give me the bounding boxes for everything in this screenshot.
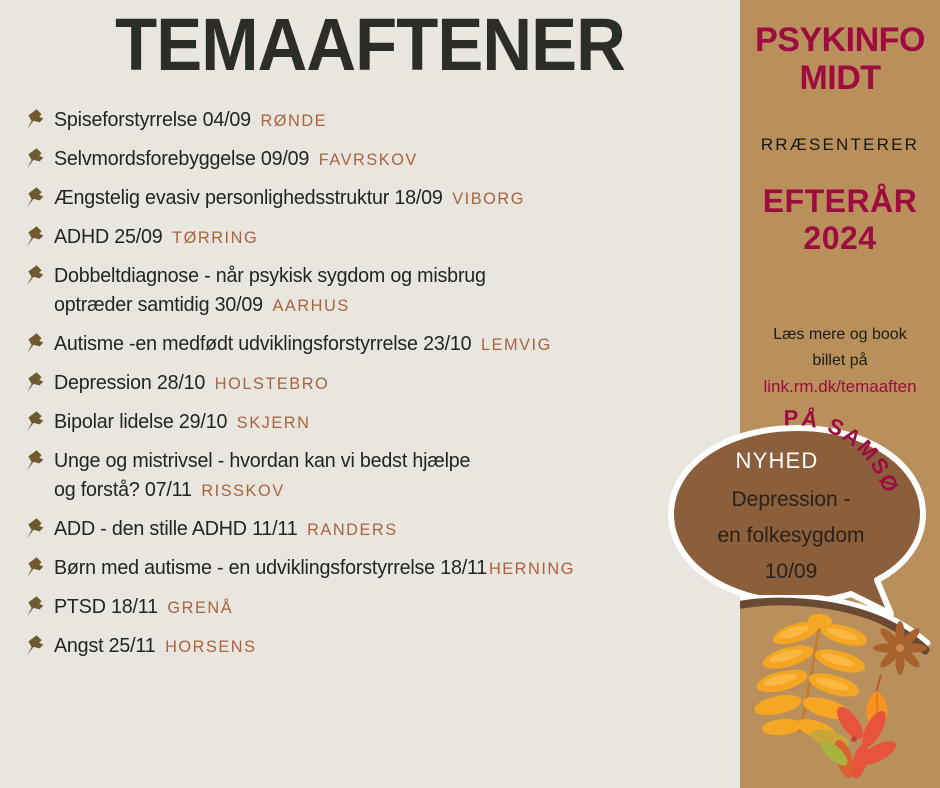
pushpin-icon [22,224,48,250]
year-label: 2024 [740,220,940,256]
event-city: VIBORG [452,189,525,208]
pushpin-icon [22,331,48,357]
event-city: LEMVIG [481,335,552,354]
event-text: ADD - den stille ADHD 11/11RANDERS [54,514,398,544]
event-text: ADHD 25/09TØRRING [54,222,258,252]
event-city: TØRRING [172,228,258,247]
event-text: Ængstelig evasiv personlighedsstruktur 1… [54,183,525,213]
list-item[interactable]: Ængstelig evasiv personlighedsstruktur 1… [22,183,742,213]
event-title: Ængstelig evasiv personlighedsstruktur 1… [54,186,443,209]
pushpin-icon [22,185,48,211]
pushpin-icon [22,409,48,435]
pushpin-icon [22,448,48,474]
read-more-line2: billet på [740,348,940,374]
event-title-cont: optræder samtidig 30/09 [54,293,263,316]
event-city: GRENÅ [167,598,233,617]
event-text: Depression 28/10HOLSTEBRO [54,368,329,398]
event-text: Selvmordsforebyggelse 09/09FAVRSKOV [54,144,418,174]
list-item[interactable]: Spiseforstyrrelse 04/09RØNDE [22,105,742,135]
pushpin-icon [22,555,48,581]
event-city: AARHUS [273,296,350,315]
list-item[interactable]: ADHD 25/09TØRRING [22,222,742,252]
event-text: Bipolar lidelse 29/10SKJERN [54,407,310,437]
event-city: HOLSTEBRO [215,374,329,393]
event-city: RISSKOV [201,481,284,500]
event-city: SKJERN [237,413,311,432]
list-item[interactable]: Autisme -en medfødt udviklingsforstyrrel… [22,329,742,359]
list-item[interactable]: ADD - den stille ADHD 11/11RANDERS [22,514,742,544]
list-item[interactable]: Unge og mistrivsel - hvordan kan vi beds… [22,446,742,505]
event-text: PTSD 18/11GRENÅ [54,592,233,622]
event-title-line2: optræder samtidig 30/09AARHUS [54,290,486,320]
event-title: ADHD 25/09 [54,225,163,248]
list-item[interactable]: Angst 25/11HORSENS [22,631,742,661]
event-city: HORSENS [165,637,256,656]
event-title-cont: og forstå? 07/11 [54,478,192,501]
pushpin-icon [22,594,48,620]
event-title: ADD - den stille ADHD 11/11 [54,517,297,540]
list-item[interactable]: Børn med autisme - en udviklingsforstyrr… [22,553,742,583]
list-item[interactable]: Selvmordsforebyggelse 09/09FAVRSKOV [22,144,742,174]
event-title: Bipolar lidelse 29/10 [54,410,227,433]
event-list: Spiseforstyrrelse 04/09RØNDE Selvmordsfo… [22,105,742,670]
event-city: RANDERS [307,520,398,539]
pushpin-icon [22,516,48,542]
read-more-text: Læs mere og book billet på [740,322,940,374]
event-city: FAVRSKOV [319,150,418,169]
brand-name-line1: PSYKINFO [740,22,940,58]
samso-arc-text: PÅ SAMSØ [784,404,904,497]
event-title: Dobbeltdiagnose - når psykisk sygdom og … [54,264,486,287]
event-title: Børn med autisme - en udviklingsforstyrr… [54,556,487,579]
pushpin-icon [22,633,48,659]
booking-link[interactable]: link.rm.dk/temaaften [740,376,940,398]
pushpin-icon [22,146,48,172]
event-text: Angst 25/11HORSENS [54,631,257,661]
list-item[interactable]: PTSD 18/11GRENÅ [22,592,742,622]
event-title: Selvmordsforebyggelse 09/09 [54,147,309,170]
event-title: Depression 28/10 [54,371,205,394]
list-item[interactable]: Bipolar lidelse 29/10SKJERN [22,407,742,437]
season-label: EFTERÅR [740,183,940,219]
page-title: TEMAAFTENER [26,8,714,82]
list-item[interactable]: Dobbeltdiagnose - når psykisk sygdom og … [22,261,742,320]
event-text: Børn med autisme - en udviklingsforstyrr… [54,553,575,583]
star-anise [873,621,927,675]
list-item[interactable]: Depression 28/10HOLSTEBRO [22,368,742,398]
pushpin-icon [22,263,48,289]
event-title: Spiseforstyrrelse 04/09 [54,108,251,131]
brand-name-line2: MIDT [740,60,940,96]
samso-arc-label: PÅ SAMSØ [775,418,940,508]
bubble-line-2: en folkesygdom [681,518,901,554]
event-city: RØNDE [260,111,327,130]
event-title: Autisme -en medfødt udviklingsforstyrrel… [54,332,471,355]
read-more-line1: Læs mere og book [740,322,940,348]
event-text: Autisme -en medfødt udviklingsforstyrrel… [54,329,552,359]
event-title: PTSD 18/11 [54,595,158,618]
presents-label: RRÆSENTERER [740,135,940,155]
poster-canvas: TEMAAFTENER Spiseforstyrrelse 04/09RØNDE… [0,0,940,788]
event-city: HERNING [489,559,575,578]
autumn-leaves-decoration [740,595,940,788]
event-title-line2: og forstå? 07/11RISSKOV [54,475,470,505]
event-text: Unge og mistrivsel - hvordan kan vi beds… [54,446,470,505]
event-title: Angst 25/11 [54,634,155,657]
bubble-line-3: 10/09 [681,554,901,590]
event-title: Unge og mistrivsel - hvordan kan vi beds… [54,449,470,472]
event-text: Dobbeltdiagnose - når psykisk sygdom og … [54,261,486,320]
event-text: Spiseforstyrrelse 04/09RØNDE [54,105,327,135]
pushpin-icon [22,107,48,133]
pushpin-icon [22,370,48,396]
